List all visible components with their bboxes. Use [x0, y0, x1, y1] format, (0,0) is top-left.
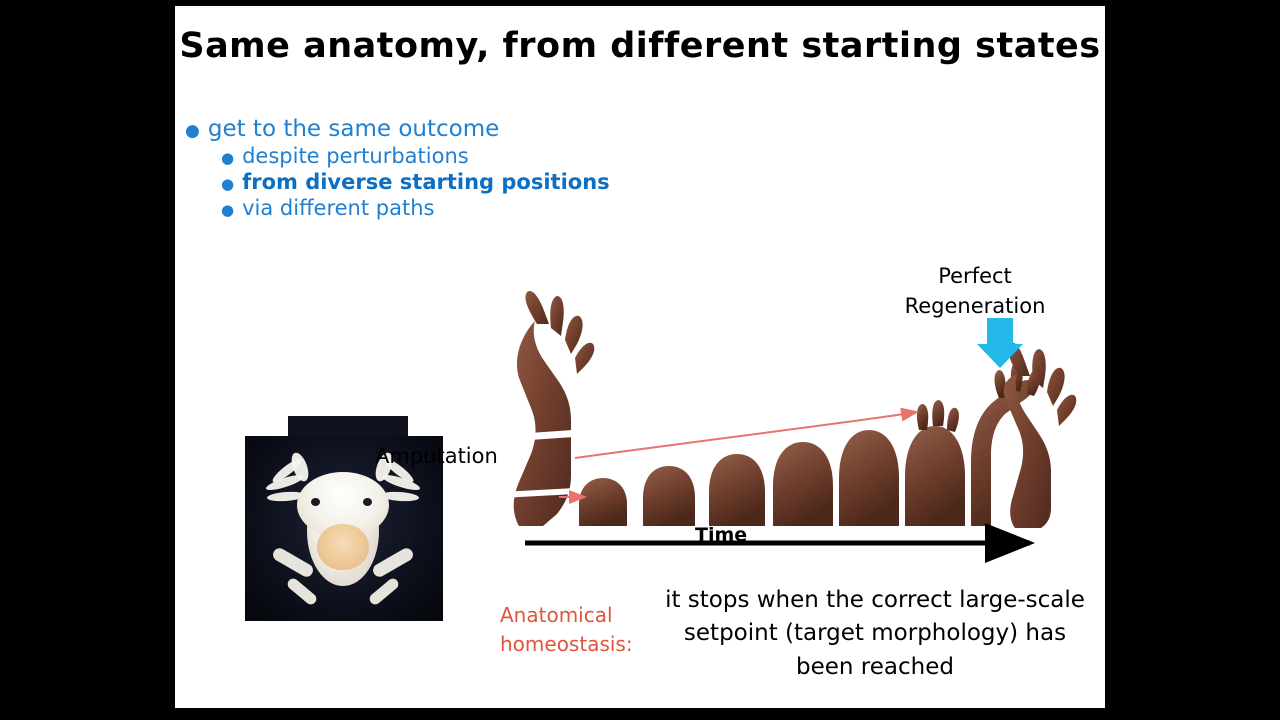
slide-stage: Same anatomy, from different starting st… — [0, 0, 1280, 720]
bullet-dot-icon: ● — [221, 151, 234, 166]
bullet-text: get to the same outcome — [208, 116, 499, 142]
amputation-label: Amputation — [375, 444, 498, 468]
perfect-regeneration-label: Perfect Regeneration — [875, 261, 1075, 322]
list-item: ● despite perturbations — [221, 144, 785, 168]
page-title: Same anatomy, from different starting st… — [175, 26, 1105, 66]
limb-regenerated — [1004, 342, 1077, 528]
bullet-list: ● get to the same outcome ● despite pert… — [185, 116, 785, 222]
bullet-text: despite perturbations — [242, 144, 469, 168]
bullet-dot-icon: ● — [185, 123, 200, 140]
bullet-dot-icon: ● — [221, 203, 234, 218]
list-item: ● get to the same outcome — [185, 116, 785, 142]
limb-original — [505, 291, 594, 526]
bullet-text: via different paths — [242, 196, 434, 220]
homeostasis-line2: homeostasis: — [500, 632, 633, 656]
bullet-text: from diverse starting positions — [242, 170, 610, 194]
arrow-down-icon — [977, 318, 1023, 368]
time-axis-label: Time — [695, 524, 747, 546]
regeneration-series — [579, 362, 1040, 526]
homeostasis-line1: Anatomical — [500, 603, 613, 627]
perfect-regeneration-line1: Perfect — [938, 264, 1012, 288]
list-item: ● via different paths — [221, 196, 785, 220]
caption-text: it stops when the correct large-scale se… — [665, 584, 1085, 684]
pink-arrows — [559, 412, 917, 497]
perfect-regeneration-line2: Regeneration — [905, 294, 1046, 318]
slide-canvas: Same anatomy, from different starting st… — [175, 6, 1105, 708]
bullet-dot-icon: ● — [221, 177, 234, 192]
list-item: ● from diverse starting positions — [221, 170, 785, 194]
